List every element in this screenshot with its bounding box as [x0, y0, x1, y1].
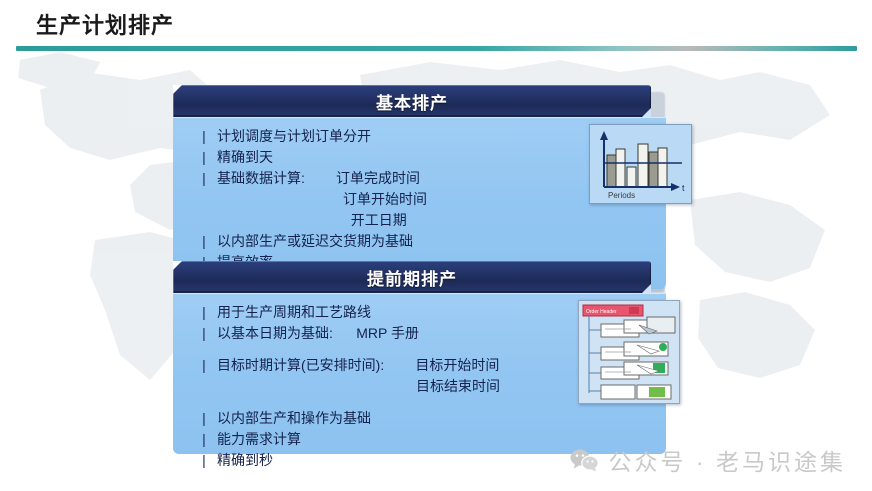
title-accent-rule [16, 46, 857, 51]
list-item: | 以内部生产和操作为基础 [173, 408, 666, 429]
thumbnail-tree-diagram[interactable]: Order Header [578, 300, 680, 404]
bar-chart-icon: Periods t [590, 125, 691, 203]
page-title: 生产计划排产 [36, 8, 174, 40]
list-item-label: 计划调度与计划订单分开 [217, 126, 371, 147]
bullet-marker: | [191, 429, 217, 450]
tree-diagram-icon: Order Header [579, 301, 679, 403]
bullet-marker: | [191, 302, 217, 323]
list-item-label: 以基本日期为基础: MRP 手册 [217, 323, 419, 344]
thumbnail-bar-chart[interactable]: Periods t [589, 124, 692, 204]
list-item: | 以内部生产或延迟交货期为基础 [173, 231, 666, 252]
bullet-marker: | [191, 147, 217, 168]
list-item-label: 以内部生产或延迟交货期为基础 [217, 231, 413, 252]
card-basic-header-label: 基本排产 [376, 89, 448, 114]
bullet-marker: | [191, 355, 217, 376]
svg-text:Order Header: Order Header [586, 309, 617, 315]
bullet-marker: | [191, 323, 217, 344]
list-item-label: 精确到秒 [217, 450, 273, 471]
card-basic-scheduling[interactable]: 基本排产 | 计划调度与计划订单分开 | 精确到天 | 基础数据计算: 订单完成… [173, 85, 651, 289]
bullet-marker: | [191, 168, 217, 189]
list-item-label: 能力需求计算 [217, 429, 301, 450]
card-leadtime-header-label: 提前期排产 [367, 265, 457, 290]
bullet-marker: | [191, 231, 217, 252]
list-item-label: 精确到天 [217, 147, 273, 168]
list-item-label: 基础数据计算: 订单完成时间 [217, 168, 420, 189]
sub-line: 开工日期 [173, 210, 666, 231]
card-basic-header: 基本排产 [173, 85, 651, 117]
footer-watermark: 公众号 · 老马识途集 [569, 443, 846, 477]
bullet-marker: | [191, 450, 217, 471]
card-leadtime-header: 提前期排产 [173, 261, 651, 293]
bullet-marker: | [191, 408, 217, 429]
svg-text:Periods: Periods [608, 191, 635, 200]
list-item-label: 用于生产周期和工艺路线 [217, 302, 371, 323]
footer-watermark-label: 公众号 · 老马识途集 [609, 443, 846, 477]
wechat-icon [569, 448, 599, 472]
list-item-label: 目标时期计算(已安排时间): 目标开始时间 [217, 355, 499, 376]
bullet-marker: | [191, 126, 217, 147]
list-item-label: 以内部生产和操作为基础 [217, 408, 371, 429]
